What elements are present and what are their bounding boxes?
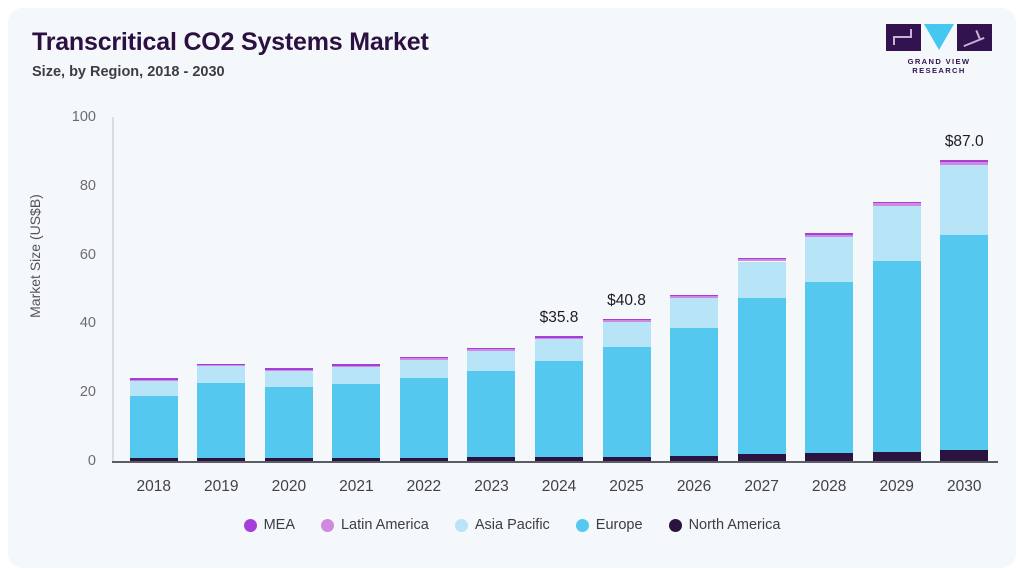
bar-segment-europe[interactable] bbox=[805, 282, 853, 453]
bar-value-label: $87.0 bbox=[904, 133, 1016, 151]
x-axis-tick-2030: 2030 bbox=[904, 478, 1016, 496]
bar-segment-europe[interactable] bbox=[265, 387, 313, 458]
bar-segment-asia-pacific[interactable] bbox=[670, 298, 718, 328]
bar-segment-north-america[interactable] bbox=[130, 458, 178, 461]
legend-swatch-icon bbox=[244, 519, 257, 532]
table-row[interactable] bbox=[197, 365, 245, 461]
table-row[interactable] bbox=[805, 233, 853, 461]
bar-segment-latin-america[interactable] bbox=[535, 337, 583, 339]
bar-segment-europe[interactable] bbox=[670, 328, 718, 456]
y-axis-tick-60: 60 bbox=[44, 247, 96, 263]
legend-label: Latin America bbox=[341, 517, 429, 533]
y-axis-tick-80: 80 bbox=[44, 178, 96, 194]
bar-segment-north-america[interactable] bbox=[535, 457, 583, 461]
bar-segment-latin-america[interactable] bbox=[805, 235, 853, 237]
bar-segment-europe[interactable] bbox=[535, 361, 583, 457]
table-row[interactable] bbox=[265, 369, 313, 461]
table-row[interactable] bbox=[873, 202, 921, 461]
legend-swatch-icon bbox=[321, 519, 334, 532]
bar-segment-north-america[interactable] bbox=[332, 458, 380, 461]
bar-segment-mea[interactable] bbox=[738, 258, 786, 260]
bar-segment-mea[interactable] bbox=[805, 233, 853, 235]
legend-label: Asia Pacific bbox=[475, 517, 550, 533]
y-axis-line bbox=[112, 117, 114, 462]
legend-label: Europe bbox=[596, 517, 643, 533]
bar-segment-north-america[interactable] bbox=[940, 450, 988, 461]
bar-segment-mea[interactable] bbox=[467, 348, 515, 350]
bar-segment-asia-pacific[interactable] bbox=[265, 371, 313, 387]
bar-segment-asia-pacific[interactable] bbox=[400, 360, 448, 379]
bar-segment-mea[interactable] bbox=[873, 202, 921, 204]
bar-segment-europe[interactable] bbox=[467, 371, 515, 458]
y-axis-label: Market Size (US$B) bbox=[27, 156, 43, 356]
table-row[interactable] bbox=[130, 379, 178, 461]
table-row[interactable]: $35.8 bbox=[535, 338, 583, 461]
legend-label: MEA bbox=[264, 517, 295, 533]
bar-segment-asia-pacific[interactable] bbox=[535, 339, 583, 361]
bar-segment-europe[interactable] bbox=[738, 298, 786, 454]
y-axis-tick-40: 40 bbox=[44, 315, 96, 331]
legend-swatch-icon bbox=[576, 519, 589, 532]
bar-segment-latin-america[interactable] bbox=[940, 162, 988, 165]
bar-segment-north-america[interactable] bbox=[400, 458, 448, 461]
bar-segment-asia-pacific[interactable] bbox=[467, 351, 515, 371]
bar-segment-asia-pacific[interactable] bbox=[873, 206, 921, 261]
bar-segment-latin-america[interactable] bbox=[873, 203, 921, 206]
bar-value-label: $35.8 bbox=[499, 309, 619, 327]
bar-segment-europe[interactable] bbox=[940, 235, 988, 450]
legend-swatch-icon bbox=[669, 519, 682, 532]
legend-label: North America bbox=[689, 517, 781, 533]
y-axis-tick-0: 0 bbox=[44, 453, 96, 469]
legend-item-mea[interactable]: MEA bbox=[244, 517, 295, 533]
bar-segment-north-america[interactable] bbox=[197, 458, 245, 461]
bar-segment-mea[interactable] bbox=[197, 364, 245, 366]
bar-segment-north-america[interactable] bbox=[670, 456, 718, 462]
bar-segment-latin-america[interactable] bbox=[738, 259, 786, 261]
bar-segment-mea[interactable] bbox=[535, 336, 583, 338]
bar-segment-europe[interactable] bbox=[603, 347, 651, 456]
bar-segment-latin-america[interactable] bbox=[670, 296, 718, 298]
bar-segment-north-america[interactable] bbox=[738, 454, 786, 461]
chart-legend: MEALatin AmericaAsia PacificEuropeNorth … bbox=[8, 517, 1016, 533]
bar-value-label: $40.8 bbox=[567, 292, 687, 310]
bar-segment-mea[interactable] bbox=[265, 368, 313, 370]
bar-segment-mea[interactable] bbox=[670, 295, 718, 297]
legend-item-latin-america[interactable]: Latin America bbox=[321, 517, 429, 533]
table-row[interactable] bbox=[467, 349, 515, 461]
bar-segment-asia-pacific[interactable] bbox=[130, 381, 178, 396]
chart-card: Transcritical CO2 Systems Market Size, b… bbox=[8, 8, 1016, 568]
bar-segment-asia-pacific[interactable] bbox=[603, 322, 651, 347]
bar-segment-north-america[interactable] bbox=[805, 453, 853, 461]
bar-segment-europe[interactable] bbox=[197, 383, 245, 458]
table-row[interactable] bbox=[400, 358, 448, 461]
table-row[interactable] bbox=[738, 258, 786, 461]
stacked-bar-chart: Market Size (US$B) 020406080100 $35.8$40… bbox=[8, 8, 1016, 568]
legend-item-north-america[interactable]: North America bbox=[669, 517, 781, 533]
bar-segment-europe[interactable] bbox=[400, 378, 448, 457]
legend-item-asia-pacific[interactable]: Asia Pacific bbox=[455, 517, 550, 533]
bar-segment-asia-pacific[interactable] bbox=[332, 367, 380, 384]
table-row[interactable]: $40.8 bbox=[603, 321, 651, 461]
table-row[interactable] bbox=[332, 365, 380, 461]
bar-segment-north-america[interactable] bbox=[603, 457, 651, 461]
bar-segment-europe[interactable] bbox=[332, 384, 380, 458]
bar-segment-north-america[interactable] bbox=[265, 458, 313, 461]
bar-segment-mea[interactable] bbox=[940, 160, 988, 162]
y-axis-tick-100: 100 bbox=[44, 109, 96, 125]
y-axis-tick-20: 20 bbox=[44, 384, 96, 400]
bar-segment-europe[interactable] bbox=[130, 396, 178, 459]
bar-segment-asia-pacific[interactable] bbox=[738, 262, 786, 299]
bar-segment-north-america[interactable] bbox=[873, 452, 921, 461]
bar-segment-latin-america[interactable] bbox=[603, 320, 651, 322]
bar-segment-mea[interactable] bbox=[400, 357, 448, 359]
bar-segment-north-america[interactable] bbox=[467, 457, 515, 461]
legend-swatch-icon bbox=[455, 519, 468, 532]
bar-segment-europe[interactable] bbox=[873, 261, 921, 452]
table-row[interactable]: $87.0 bbox=[940, 162, 988, 461]
legend-item-europe[interactable]: Europe bbox=[576, 517, 643, 533]
bar-segment-mea[interactable] bbox=[332, 364, 380, 366]
bar-segment-asia-pacific[interactable] bbox=[940, 165, 988, 235]
x-axis-line bbox=[112, 461, 998, 463]
bar-segment-mea[interactable] bbox=[130, 378, 178, 380]
bar-segment-asia-pacific[interactable] bbox=[805, 237, 853, 282]
table-row[interactable] bbox=[670, 295, 718, 461]
bar-segment-mea[interactable] bbox=[603, 319, 651, 321]
bar-segment-asia-pacific[interactable] bbox=[197, 366, 245, 383]
